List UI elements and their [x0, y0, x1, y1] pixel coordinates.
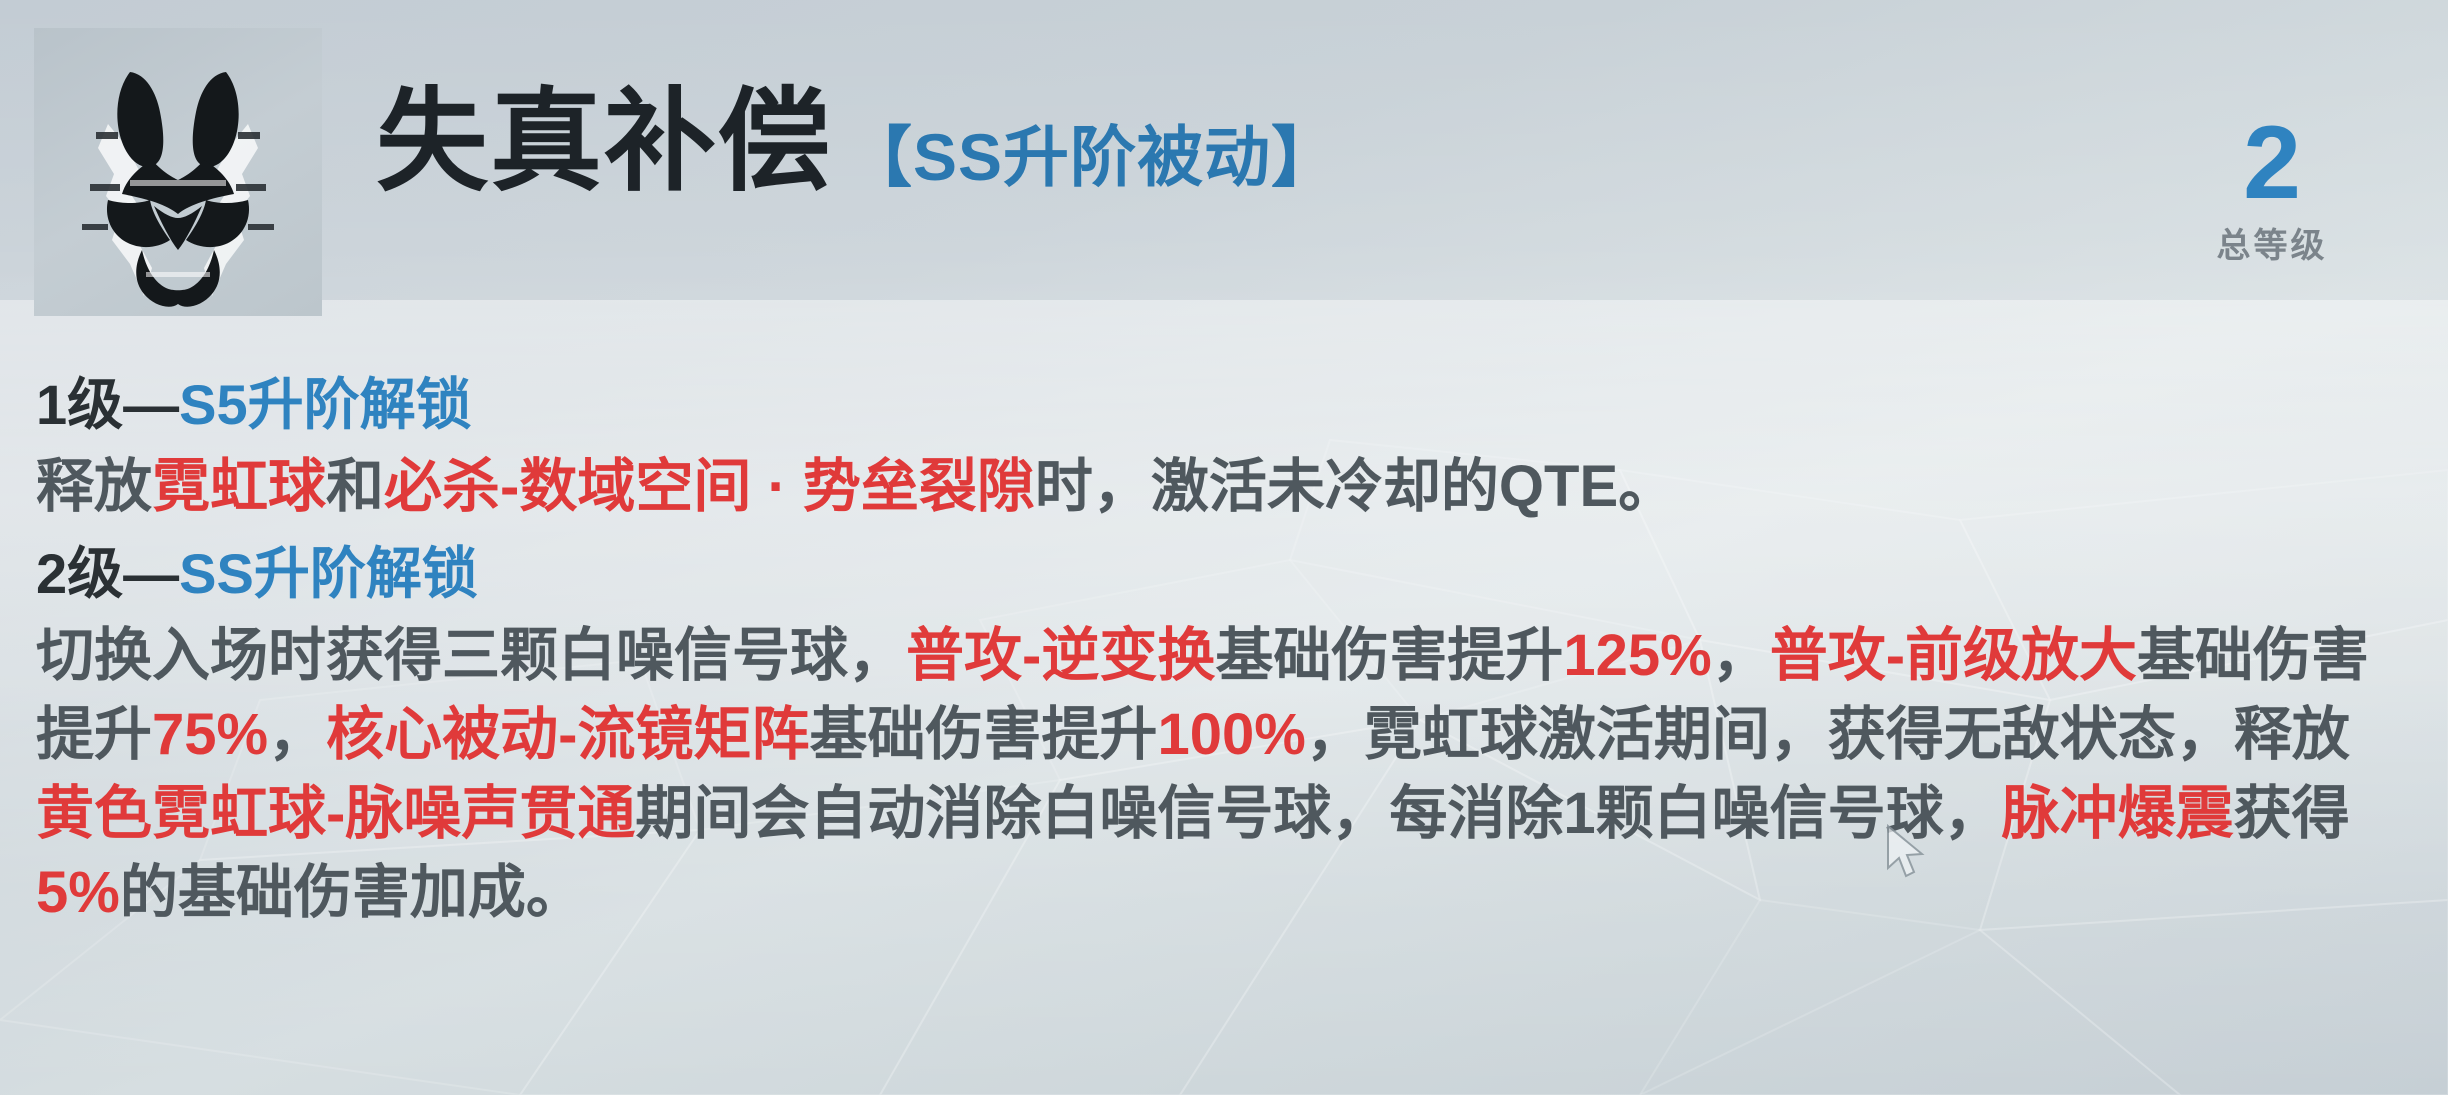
text-segment: 100%: [1157, 702, 1305, 767]
skill-type-badge: 【SS升阶被动】: [846, 124, 1338, 190]
beast-mask-skill-icon: [34, 28, 322, 316]
text-segment: 必杀-数域空间 · 势垒裂隙: [384, 454, 1035, 519]
text-segment: 释放: [36, 454, 152, 519]
total-level-indicator: 2 总等级: [2152, 116, 2392, 267]
total-level-label: 总等级: [2152, 218, 2392, 267]
text-segment: 黄色霓虹球-脉噪声贯通: [36, 781, 635, 846]
rank-1-heading-unlock: S5升阶解锁: [179, 373, 472, 436]
text-segment: 75%: [152, 702, 268, 767]
rank-2-heading-unlock: SS升阶解锁: [179, 542, 478, 605]
panel-header: 失真补偿 【SS升阶被动】 2 总等级: [34, 20, 2414, 310]
text-segment: 基础伤害提升: [809, 702, 1157, 767]
text-segment: 的基础伤害加成。: [120, 860, 584, 925]
text-segment: 期间会自动消除白噪信号球，每消除: [635, 781, 1563, 846]
rank-2-heading: 2级—SS升阶解锁: [36, 541, 2376, 607]
rank-1-heading-level: 1级—: [36, 373, 179, 436]
title-row: 失真补偿 【SS升阶被动】: [376, 86, 1338, 198]
text-segment: 切换入场时获得三颗白噪信号球，: [36, 623, 906, 688]
text-segment: 5%: [36, 860, 120, 925]
text-segment: ，霓虹球激活期间，获得无敌状态，释放: [1306, 702, 2350, 767]
rank-1-heading: 1级—S5升阶解锁: [36, 372, 2376, 438]
text-segment: 颗白噪信号球，: [1596, 781, 2002, 846]
skill-description-area: 1级—S5升阶解锁 释放霓虹球和必杀-数域空间 · 势垒裂隙时，激活未冷却的QT…: [36, 372, 2376, 933]
rank-2-description: 切换入场时获得三颗白噪信号球，普攻-逆变换基础伤害提升125%，普攻-前级放大基…: [36, 617, 2376, 933]
text-segment: 普攻-逆变换: [906, 623, 1215, 688]
text-segment: 霓虹球: [152, 454, 326, 519]
text-segment: ，: [1712, 623, 1770, 688]
text-segment: 基础伤害提升: [1215, 623, 1563, 688]
text-segment: 时，激活未冷却的QTE。: [1035, 454, 1676, 519]
rank-1-description: 释放霓虹球和必杀-数域空间 · 势垒裂隙时，激活未冷却的QTE。: [36, 448, 2376, 527]
skill-info-panel: 失真补偿 【SS升阶被动】 2 总等级 1级—S5升阶解锁 释放霓虹球和必杀-数…: [0, 0, 2448, 1095]
text-segment: 脉冲爆震: [2002, 781, 2234, 846]
text-segment: 125%: [1563, 623, 1711, 688]
text-segment: 和: [326, 454, 384, 519]
text-segment: ，: [268, 702, 326, 767]
rank-2-heading-level: 2级—: [36, 542, 179, 605]
text-segment: 1: [1563, 781, 1595, 846]
text-segment: 普攻-前级放大: [1770, 623, 2137, 688]
text-segment: 核心被动-流镜矩阵: [326, 702, 809, 767]
text-segment: 获得: [2234, 781, 2350, 846]
page-title: 失真补偿: [376, 86, 832, 198]
total-level-value: 2: [2152, 116, 2392, 212]
